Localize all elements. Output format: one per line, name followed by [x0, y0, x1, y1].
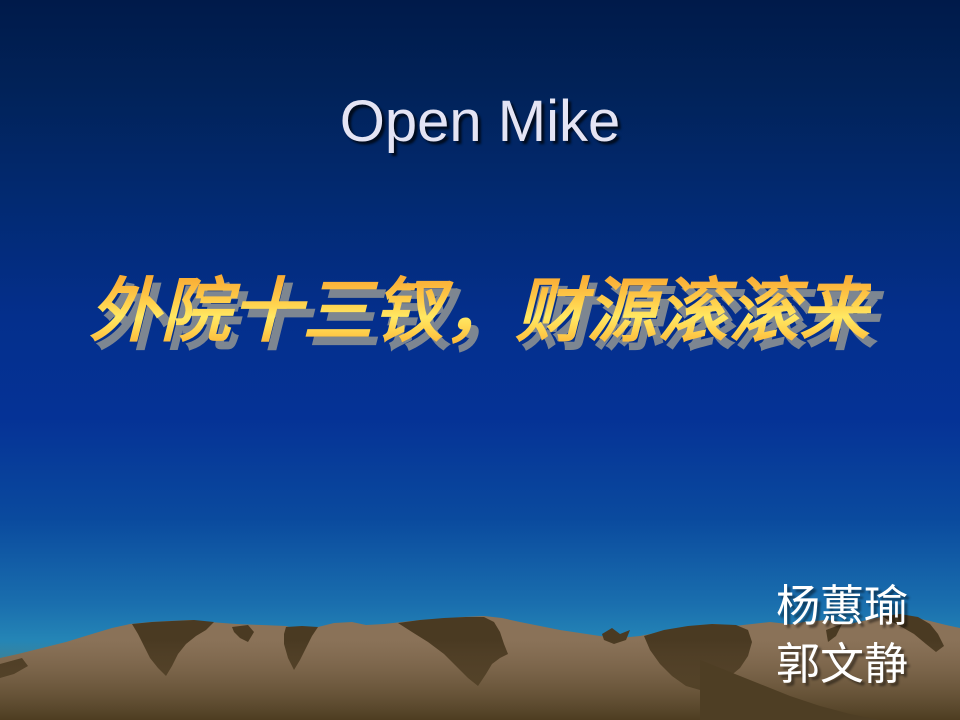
headline-wordart-container: 外院十三钗，财源滚滚来 外院十三钗，财源滚滚来 [0, 272, 960, 392]
presenter-name-1: 杨蕙瑜 [776, 578, 908, 636]
presenter-name-2: 郭文静 [776, 636, 908, 694]
slide-title: Open Mike [0, 92, 960, 153]
headline-wordart-face: 外院十三钗，财源滚滚来 [90, 269, 871, 352]
presentation-slide: Open Mike 外院十三钗，财源滚滚来 外院十三钗，财源滚滚来 杨蕙瑜 郭文… [0, 0, 960, 720]
presenter-names: 杨蕙瑜 郭文静 [776, 578, 908, 694]
headline-wordart: 外院十三钗，财源滚滚来 外院十三钗，财源滚滚来 [90, 272, 871, 350]
